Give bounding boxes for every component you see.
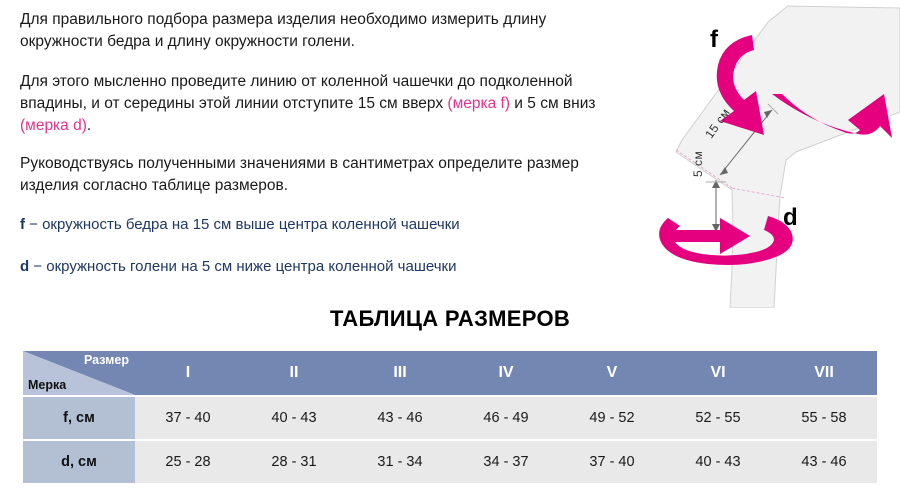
instruction-paragraph-3: Руководствуясь полученными значениями в …	[20, 153, 620, 197]
measure-definition-f: f − окружность бедра на 15 см выше центр…	[20, 215, 620, 235]
measure-f-inline-tag: (мерка f)	[447, 95, 510, 112]
measure-definition-d: d − окружность голени на 5 см ниже центр…	[20, 257, 620, 277]
cell-d-5: 37 - 40	[559, 441, 665, 483]
row-label-d: d, см	[23, 441, 135, 483]
size-column-header-3: III	[347, 351, 453, 395]
size-table: Размер Мерка I II III IV V VI VII f, см …	[23, 349, 877, 485]
figure-label-d: d	[783, 206, 798, 230]
size-column-header-6: VI	[665, 351, 771, 395]
cell-f-4: 46 - 49	[453, 397, 559, 439]
cell-d-6: 40 - 43	[665, 441, 771, 483]
instruction-paragraph-2-segment-3: .	[87, 117, 91, 134]
table-row: f, см 37 - 40 40 - 43 43 - 46 46 - 49 49…	[23, 397, 877, 439]
figure-label-f: f	[710, 28, 718, 52]
corner-merka-label: Мерка	[28, 378, 66, 392]
size-table-header-row: Размер Мерка I II III IV V VI VII	[23, 351, 877, 395]
size-column-header-2: II	[241, 351, 347, 395]
leg-measurement-diagram: f d 15 см 5 см	[620, 0, 900, 308]
size-table-body: f, см 37 - 40 40 - 43 43 - 46 46 - 49 49…	[23, 397, 877, 483]
size-column-header-1: I	[135, 351, 241, 395]
instruction-paragraph-1: Для правильного подбора размера изделия …	[20, 9, 620, 53]
cell-f-1: 37 - 40	[135, 397, 241, 439]
size-column-header-5: V	[559, 351, 665, 395]
row-label-f: f, см	[23, 397, 135, 439]
cell-f-5: 49 - 52	[559, 397, 665, 439]
cell-d-3: 31 - 34	[347, 441, 453, 483]
size-column-header-7: VII	[771, 351, 877, 395]
size-table-header: Размер Мерка I II III IV V VI VII	[23, 351, 877, 395]
size-column-header-4: IV	[453, 351, 559, 395]
corner-size-label: Размер	[84, 353, 129, 367]
size-table-title: ТАБЛИЦА РАЗМЕРОВ	[0, 306, 900, 332]
instructions-panel: Для правильного подбора размера изделия …	[20, 9, 620, 299]
cell-d-7: 43 - 46	[771, 441, 877, 483]
cell-d-2: 28 - 31	[241, 441, 347, 483]
cell-f-6: 52 - 55	[665, 397, 771, 439]
cell-d-4: 34 - 37	[453, 441, 559, 483]
cell-f-7: 55 - 58	[771, 397, 877, 439]
measure-definition-f-text: − окружность бедра на 15 см выше центра …	[25, 216, 460, 233]
measure-d-inline-tag: (мерка d)	[20, 117, 87, 134]
instruction-paragraph-2: Для этого мысленно проведите линию от ко…	[20, 71, 620, 137]
leg-diagram-svg	[620, 0, 900, 308]
cell-f-2: 40 - 43	[241, 397, 347, 439]
cell-f-3: 43 - 46	[347, 397, 453, 439]
cell-d-1: 25 - 28	[135, 441, 241, 483]
instruction-paragraph-2-segment-2: и 5 см вниз	[510, 95, 595, 112]
dimension-label-5cm: 5 см	[691, 151, 705, 177]
measure-definition-d-text: − окружность голени на 5 см ниже центра …	[29, 258, 456, 275]
size-table-corner-cell: Размер Мерка	[23, 351, 135, 395]
measure-definition-d-key: d	[20, 258, 29, 275]
table-row: d, см 25 - 28 28 - 31 31 - 34 34 - 37 37…	[23, 441, 877, 483]
